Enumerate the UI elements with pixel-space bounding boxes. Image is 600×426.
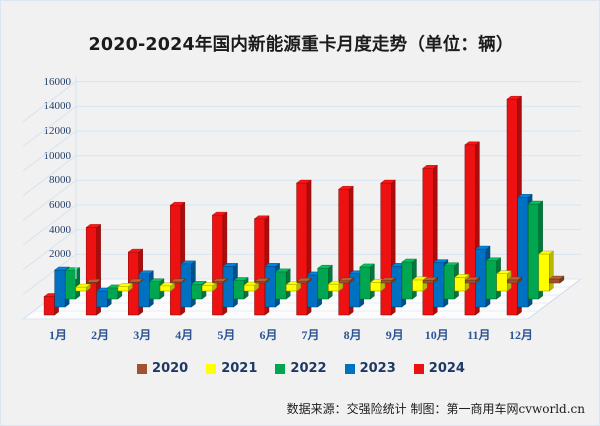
gridline-depth (23, 230, 76, 270)
legend-label: 2022 (290, 361, 326, 376)
legend-item-2022[interactable]: 2022 (275, 361, 326, 376)
gridline-depth (23, 131, 76, 171)
x-tick-label: 2月 (91, 326, 109, 343)
legend-label: 2020 (152, 361, 188, 376)
x-tick-label: 8月 (344, 326, 362, 343)
legend-swatch-icon (275, 364, 285, 374)
bar-2022-1月 (65, 268, 80, 299)
chart-title: 2020-2024年国内新能源重卡月度走势（单位：辆） (1, 31, 600, 56)
x-tick-label: 4月 (175, 326, 193, 343)
legend-item-2020[interactable]: 2020 (137, 361, 188, 376)
legend-swatch-icon (345, 364, 355, 374)
bar-2021-5月 (244, 282, 259, 291)
x-tick-label: 10月 (425, 326, 449, 343)
bar-2021-3月 (160, 283, 175, 291)
x-tick-label: 3月 (133, 326, 151, 343)
x-tick-label: 7月 (302, 326, 320, 343)
bar-2021-4月 (202, 282, 217, 291)
chart-legend: 20202021202220232024 (1, 361, 600, 376)
legend-label: 2023 (360, 361, 396, 376)
bar-2021-12月 (539, 251, 554, 291)
x-tick-label: 9月 (386, 326, 404, 343)
gridline-depth (23, 106, 76, 146)
legend-label: 2024 (429, 361, 465, 376)
gridline-depth (23, 180, 76, 220)
x-tick-label: 6月 (259, 326, 277, 343)
chart-svg (1, 76, 600, 336)
legend-item-2024[interactable]: 2024 (414, 361, 465, 376)
x-axis: 1月2月3月4月5月6月7月8月9月10月11月12月 (1, 326, 600, 350)
legend-swatch-icon (414, 364, 424, 374)
chart-footer-source: 数据来源：交强险统计 制图：第一商用车网cvworld.cn (287, 400, 585, 417)
bar-2022-7月 (318, 265, 333, 299)
legend-label: 2021 (221, 361, 257, 376)
legend-item-2021[interactable]: 2021 (206, 361, 257, 376)
gridline-depth (23, 82, 76, 122)
chart-plot-area (1, 76, 600, 336)
legend-item-2023[interactable]: 2023 (345, 361, 396, 376)
bar-2021-2月 (118, 283, 133, 291)
gridline-depth (23, 156, 76, 196)
x-tick-label: 1月 (49, 326, 67, 343)
legend-swatch-icon (137, 364, 147, 374)
x-tick-label: 12月 (509, 326, 533, 343)
x-tick-label: 11月 (467, 326, 490, 343)
x-tick-label: 5月 (217, 326, 235, 343)
gridline-depth (23, 205, 76, 245)
chart-container: 2020-2024年国内新能源重卡月度走势（单位：辆） 020004000600… (0, 0, 600, 426)
legend-swatch-icon (206, 364, 216, 374)
